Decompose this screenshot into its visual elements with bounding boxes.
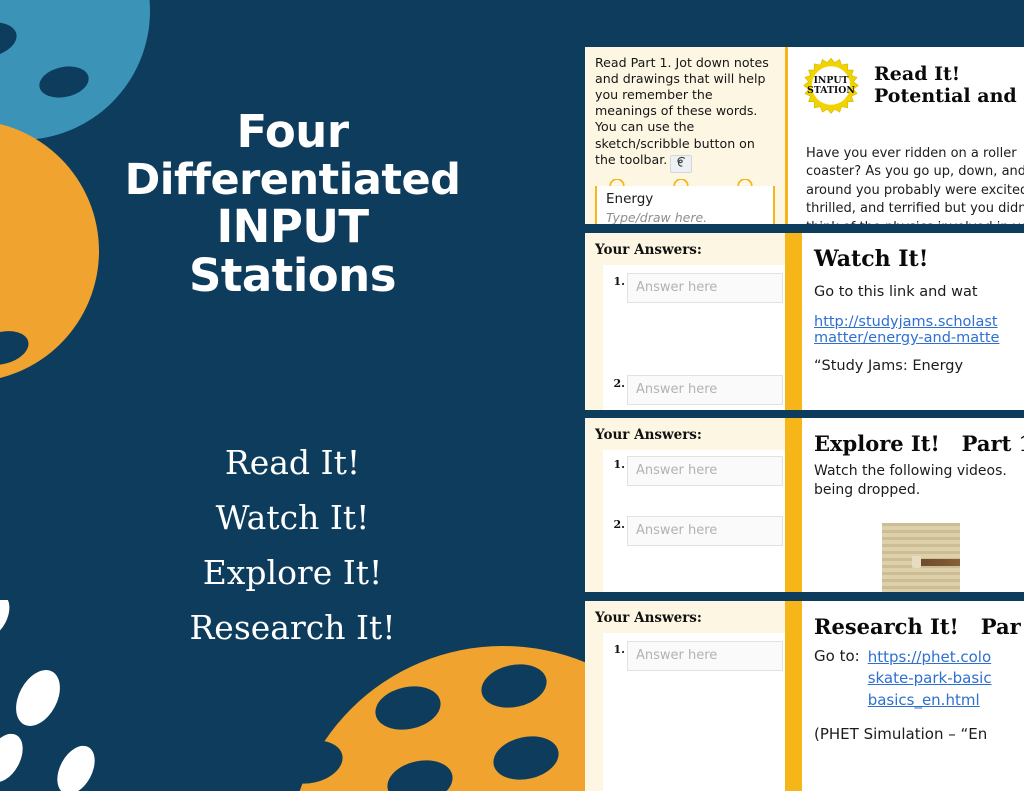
thumbnail-object-knob [912,556,921,568]
read-it-heading-line-1: Read It! [874,63,1024,85]
read-it-heading-line-2: Potential and Ki [874,85,1024,107]
watch-it-answers-pane: Your Answers: 1. Answer here 2. Answer h… [585,233,785,410]
research-it-content-pane: Research It!Par Go to: https://phet.colo… [799,601,1024,791]
answers-sheet: 1. Answer here [603,633,785,791]
station-list-item-read: Read It! [0,435,585,490]
answers-heading: Your Answers: [595,427,775,443]
title-line-1: Four [0,108,585,157]
watch-it-links: http://studyjams.scholast matter/energy-… [814,314,1024,346]
watch-it-heading: Watch It! [814,246,1024,272]
station-card-explore-it[interactable]: Your Answers: 1. Answer here 2. Answer h… [585,415,1024,595]
research-it-links: https://phet.colo skate-park-basic basic… [868,647,992,711]
answer-row: 1. Answer here [627,273,783,303]
research-it-goto-label: Go to: [814,647,860,665]
slide-title: Four Differentiated INPUT Stations [0,108,585,300]
research-it-link-line-3[interactable]: basics_en.html [868,690,992,711]
research-it-goto-row: Go to: https://phet.colo skate-park-basi… [814,647,1024,711]
answer-input[interactable]: Answer here [627,456,783,486]
answer-number: 1. [612,643,625,656]
energy-note-box[interactable]: Energy Type/draw here. [595,182,775,224]
energy-note-placeholder[interactable]: Type/draw here. [606,210,764,224]
explore-it-part-label: Part 1 [962,431,1024,456]
thumbnail-object [918,559,960,566]
scribble-icon[interactable] [670,155,692,173]
research-it-note: (PHET Simulation – “En [814,725,1024,743]
gold-divider [785,601,799,791]
answers-heading: Your Answers: [595,242,775,258]
input-station-seal-icon: INPUT STATION [800,57,862,119]
gold-divider [785,233,799,410]
energy-note-title: Energy [606,191,764,207]
station-card-research-it[interactable]: Your Answers: 1. Answer here Research It… [585,598,1024,791]
answer-input[interactable]: Answer here [627,375,783,405]
research-it-part-label: Par [981,614,1021,639]
station-list-item-research: Research It! [0,600,585,655]
svg-text:STATION: STATION [807,85,855,96]
read-it-instructions: Read Part 1. Jot down notes and drawings… [595,55,775,173]
station-card-stack: Read Part 1. Jot down notes and drawings… [585,0,1024,791]
watch-it-content-pane: Watch It! Go to this link and wat http:/… [799,233,1024,410]
answer-input[interactable]: Answer here [627,516,783,546]
watch-it-lead-text: Go to this link and wat [814,284,1024,300]
answers-sheet: 1. Answer here 2. Answer here [603,450,785,592]
answers-heading: Your Answers: [595,610,775,626]
research-it-heading: Research It!Par [814,614,1024,639]
read-it-notes-pane: Read Part 1. Jot down notes and drawings… [585,47,785,224]
gold-divider [785,418,799,592]
station-card-read-it[interactable]: Read Part 1. Jot down notes and drawings… [585,44,1024,227]
answer-number: 2. [612,377,625,390]
explore-it-answers-pane: Your Answers: 1. Answer here 2. Answer h… [585,418,785,592]
research-it-answers-pane: Your Answers: 1. Answer here [585,601,785,791]
answer-input[interactable]: Answer here [627,641,783,671]
answer-row: 1. Answer here [627,456,783,486]
read-it-body-text: Have you ever ridden on a roller coaster… [806,145,1024,224]
station-card-watch-it[interactable]: Your Answers: 1. Answer here 2. Answer h… [585,230,1024,413]
answer-number: 2. [612,518,625,531]
research-it-link-line-2[interactable]: skate-park-basic [868,668,992,689]
explore-it-heading: Explore It!Part 1 [814,431,1024,456]
research-it-link-line-1[interactable]: https://phet.colo [868,647,992,668]
title-line-3: INPUT [0,203,585,252]
title-line-2: Differentiated [0,157,585,203]
answer-row: 2. Answer here [627,375,783,405]
video-thumbnail-dropped-object[interactable] [882,523,960,592]
answers-sheet: 1. Answer here 2. Answer here [603,265,785,410]
watch-it-caption: “Study Jams: Energy [814,358,1024,374]
station-list-item-watch: Watch It! [0,490,585,545]
answer-number: 1. [612,275,625,288]
slide-canvas: Four Differentiated INPUT Stations Read … [0,0,1024,791]
answer-input[interactable]: Answer here [627,273,783,303]
explore-it-content-pane: Explore It!Part 1 Watch the following vi… [799,418,1024,592]
answer-row: 1. Answer here [627,641,783,671]
answer-row: 2. Answer here [627,516,783,546]
read-it-content-pane: INPUT STATION Read It! Potential and Ki … [785,47,1024,224]
station-list-item-explore: Explore It! [0,545,585,600]
read-it-heading: Read It! Potential and Ki [874,63,1024,108]
explore-it-lead-text: Watch the following videos. being droppe… [814,462,1024,500]
title-line-4: Stations [0,252,585,301]
answer-number: 1. [612,458,625,471]
watch-it-link-line-2[interactable]: matter/energy-and-matte [814,330,1024,346]
station-type-list: Read It! Watch It! Explore It! Research … [0,435,585,655]
watch-it-link-line-1[interactable]: http://studyjams.scholast [814,314,1024,330]
